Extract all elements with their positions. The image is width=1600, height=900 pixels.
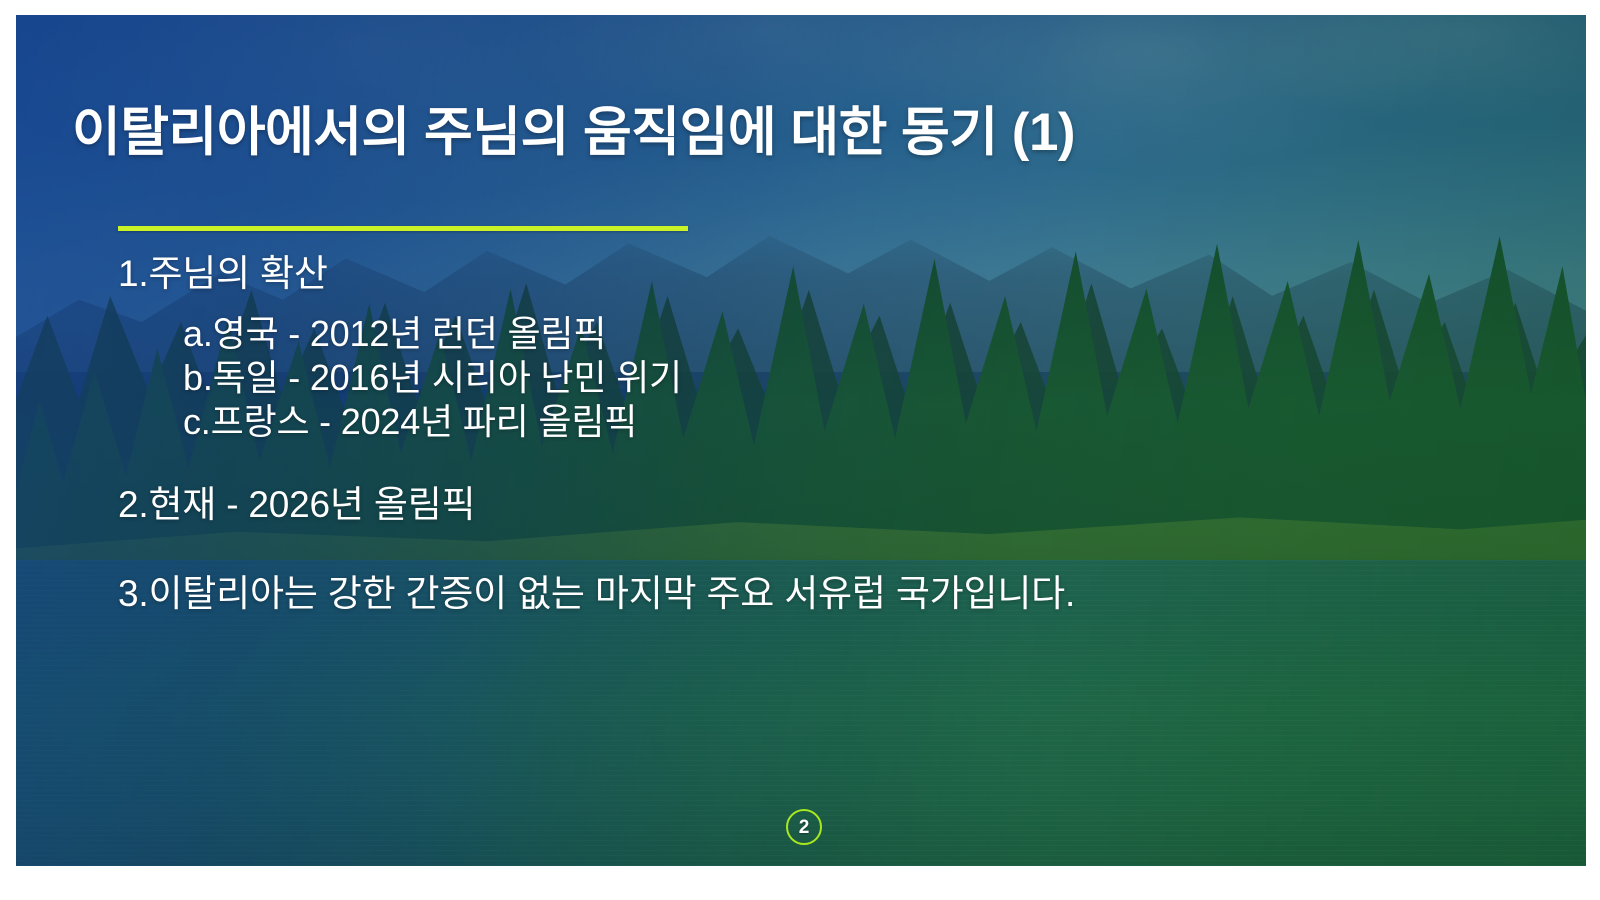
list-item-1: 1.주님의 확산 — [118, 251, 1558, 296]
title-underline-rule — [118, 226, 688, 231]
list-item-1c: c.프랑스 - 2024년 파리 올림픽 — [183, 400, 1558, 444]
slide-number-badge: 2 — [786, 809, 822, 845]
sub-list-group: a.영국 - 2012년 런던 올림픽 b.독일 - 2016년 시리아 난민 … — [118, 312, 1558, 444]
list-item-1b: b.독일 - 2016년 시리아 난민 위기 — [183, 356, 1558, 400]
presentation-slide: 이탈리아에서의 주님의 움직임에 대한 동기 (1) 1.주님의 확산 a.영국… — [16, 15, 1586, 866]
slide-title: 이탈리아에서의 주님의 움직임에 대한 동기 (1) — [72, 103, 1542, 162]
body-list: 1.주님의 확산 a.영국 - 2012년 런던 올림픽 b.독일 - 2016… — [118, 251, 1558, 616]
list-item-2: 2.현재 - 2026년 올림픽 — [118, 482, 1558, 527]
slide-number-text: 2 — [799, 818, 810, 837]
list-item-3: 3.이탈리아는 강한 간증이 없는 마지막 주요 서유럽 국가입니다. — [118, 571, 1558, 616]
slide-content: 이탈리아에서의 주님의 움직임에 대한 동기 (1) 1.주님의 확산 a.영국… — [16, 15, 1586, 866]
list-item-1a: a.영국 - 2012년 런던 올림픽 — [183, 312, 1558, 356]
slide-canvas: 이탈리아에서의 주님의 움직임에 대한 동기 (1) 1.주님의 확산 a.영국… — [0, 0, 1600, 900]
